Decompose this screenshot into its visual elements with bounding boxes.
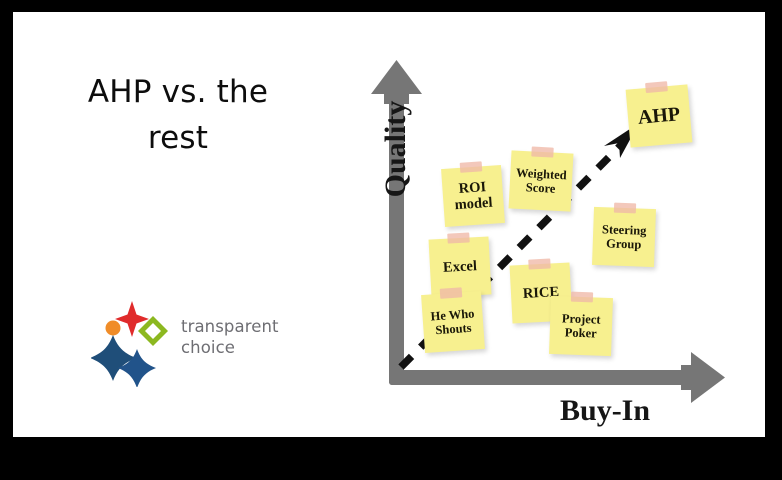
slide-canvas: AHP vs. the rest t bbox=[13, 12, 765, 437]
sticky-note-ahp[interactable]: AHP bbox=[626, 84, 693, 147]
note-line-2: Score bbox=[525, 180, 555, 196]
sticky-note-project-poker[interactable]: ProjectPoker bbox=[549, 296, 613, 356]
x-axis-label: Buy-In bbox=[560, 394, 650, 428]
page-title-line-1: AHP vs. the bbox=[88, 74, 268, 110]
transparent-choice-logo-icon bbox=[91, 295, 179, 387]
sticky-note-weighted-score[interactable]: WeightedScore bbox=[509, 150, 574, 211]
sticky-note-roi-model[interactable]: ROImodel bbox=[441, 165, 505, 227]
note-line-2: Shouts bbox=[435, 321, 472, 337]
note-line-1: ROI bbox=[458, 179, 486, 197]
brand-wordmark-line-1: transparent bbox=[181, 317, 279, 338]
page-title-line-2: rest bbox=[148, 120, 208, 156]
note-line-1: Excel bbox=[443, 258, 478, 276]
page-title: AHP vs. the rest bbox=[33, 70, 323, 162]
note-line-2: model bbox=[454, 195, 493, 214]
sticky-note-he-who-shouts[interactable]: He WhoShouts bbox=[421, 291, 485, 353]
left-panel: AHP vs. the rest t bbox=[13, 12, 343, 437]
quality-vs-buyin-chart: Quality Buy-In ROImodel WeightedScore St… bbox=[338, 12, 765, 437]
note-line-1: Project bbox=[562, 311, 601, 326]
y-axis-label: Quality bbox=[379, 69, 413, 229]
brand-logo: transparent choice bbox=[91, 295, 306, 391]
slide-letterbox-frame: AHP vs. the rest t bbox=[0, 0, 782, 480]
note-line-2: Poker bbox=[565, 325, 597, 340]
brand-wordmark-line-2: choice bbox=[181, 338, 279, 359]
x-axis-arrow bbox=[389, 352, 725, 403]
note-line-1: AHP bbox=[637, 103, 681, 129]
note-line-1: Weighted bbox=[516, 166, 567, 183]
brand-wordmark: transparent choice bbox=[181, 317, 279, 358]
orange-circle-icon bbox=[106, 321, 121, 336]
note-line-2: Group bbox=[606, 236, 642, 251]
note-line-1: Steering bbox=[602, 222, 647, 238]
sticky-note-steering-group[interactable]: SteeringGroup bbox=[592, 207, 656, 267]
